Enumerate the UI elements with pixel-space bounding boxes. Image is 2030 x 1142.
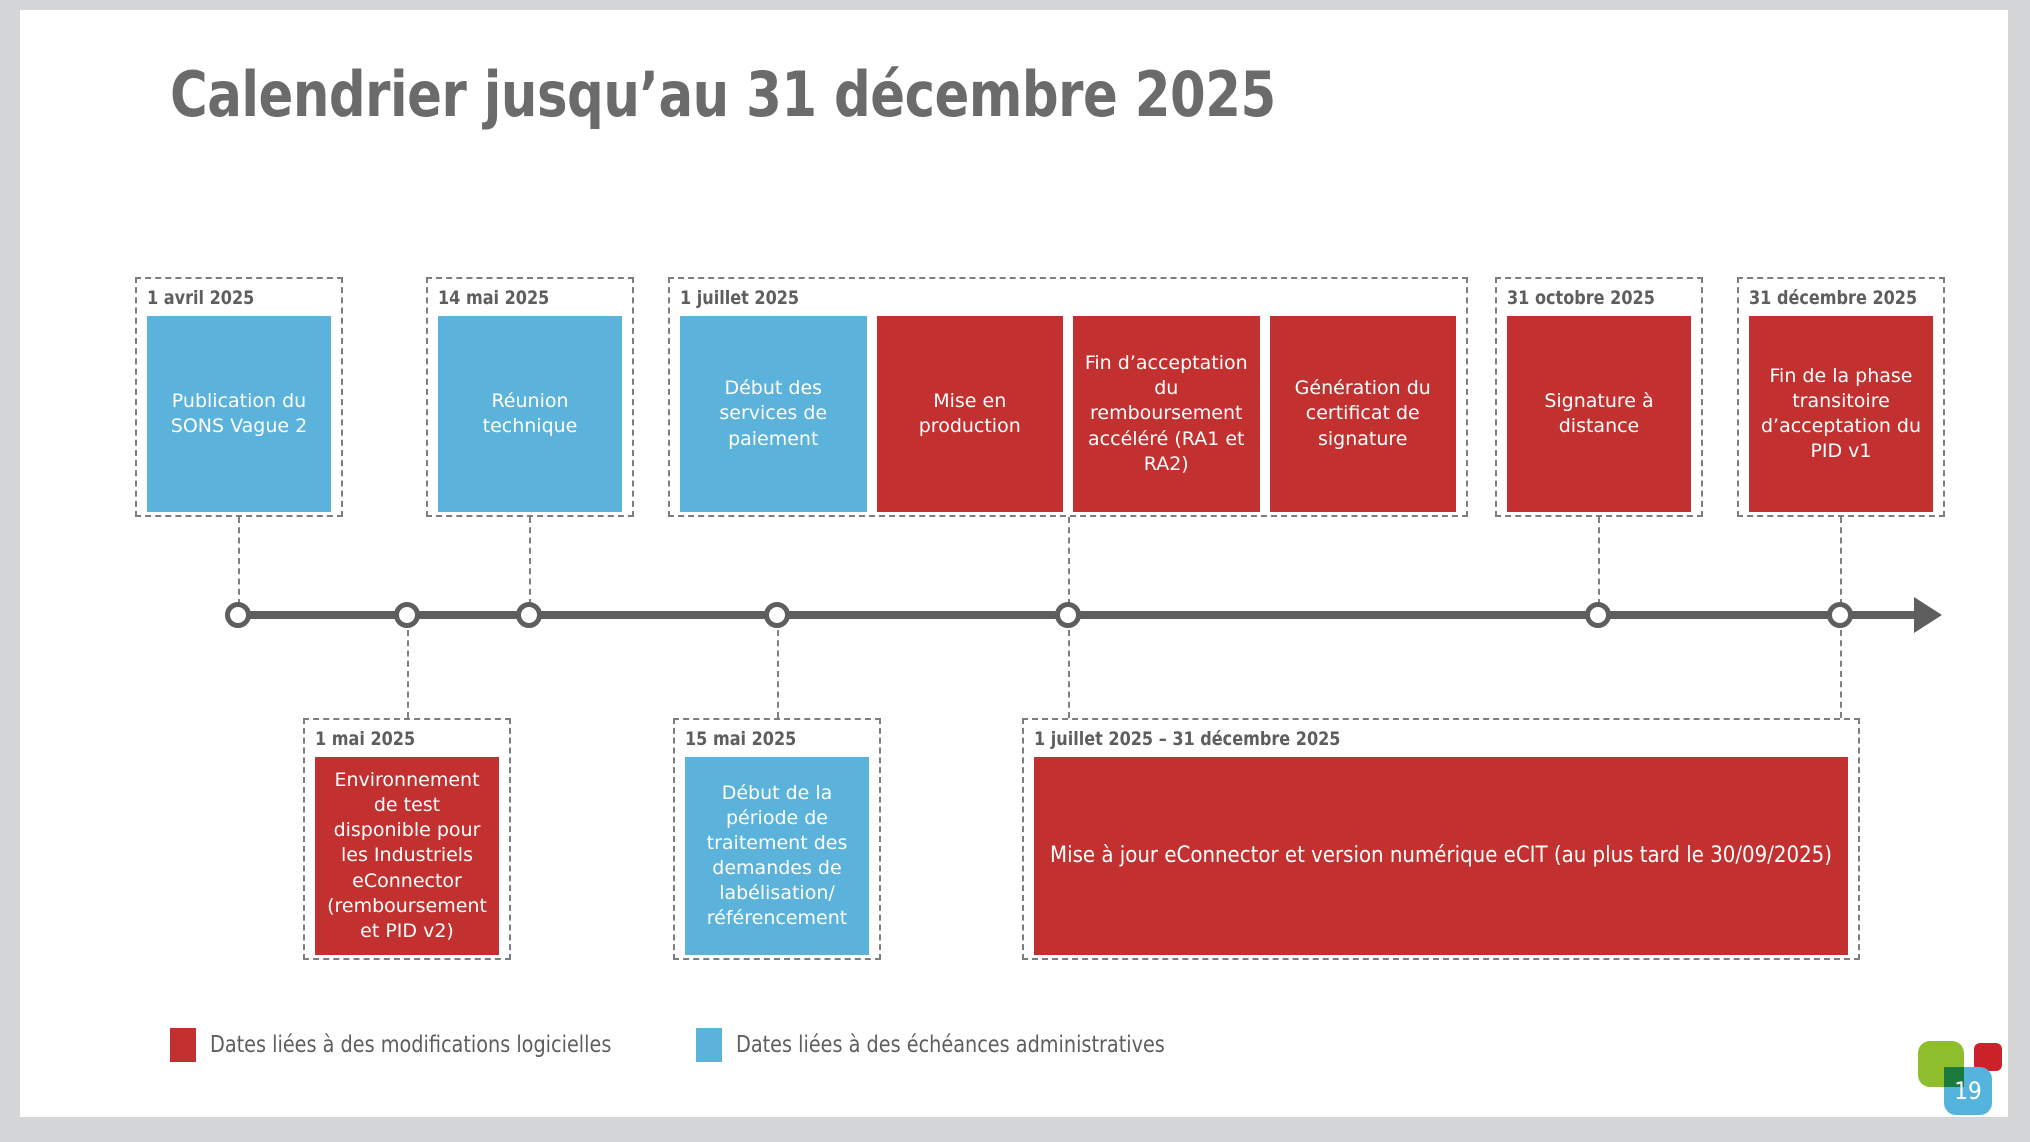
event-box-debut-periode-traitement[interactable]: Début de la période de traitement des de…	[685, 757, 869, 955]
page-number: 19	[1944, 1067, 1992, 1115]
legend-label: Dates liées à des échéances administrati…	[736, 1032, 1165, 1058]
group-event-boxes: Mise à jour eConnector et version numéri…	[1034, 757, 1848, 955]
timeline-node-15-mai[interactable]	[764, 602, 790, 628]
group-1-avril-2025[interactable]: 1 avril 2025 Publication du SONS Vague 2	[135, 277, 343, 517]
brand-logo-icon: 19	[1910, 1033, 2008, 1119]
legend-label: Dates liées à des modifications logiciel…	[210, 1032, 611, 1058]
group-event-boxes: Début des services de paiement Mise en p…	[680, 316, 1456, 512]
connector-31-octobre	[1598, 517, 1600, 605]
group-31-decembre-2025[interactable]: 31 décembre 2025 Fin de la phase transit…	[1737, 277, 1945, 517]
event-box-fin-acceptation-remboursement[interactable]: Fin d’acceptation du remboursement accél…	[1073, 316, 1260, 512]
legend-swatch-blue-icon	[696, 1028, 722, 1062]
timeline-node-14-mai[interactable]	[516, 602, 542, 628]
legend-swatch-red-icon	[170, 1028, 196, 1062]
group-date-label: 31 décembre 2025	[1749, 287, 1922, 309]
legend-item-echeances-administratives: Dates liées à des échéances administrati…	[696, 1028, 1197, 1062]
group-date-label: 1 juillet 2025 – 31 décembre 2025	[1034, 728, 1799, 750]
group-event-boxes: Début de la période de traitement des de…	[685, 757, 869, 955]
timeline-node-1-juillet[interactable]	[1055, 602, 1081, 628]
event-box-mise-a-jour-econnector-ecit[interactable]: Mise à jour eConnector et version numéri…	[1034, 757, 1848, 955]
page-title: Calendrier jusqu’au 31 décembre 2025	[170, 58, 1276, 131]
legend: Dates liées à des modifications logiciel…	[170, 1028, 1197, 1062]
event-box-debut-services-paiement[interactable]: Début des services de paiement	[680, 316, 867, 512]
group-event-boxes: Fin de la phase transitoire d’acceptatio…	[1749, 316, 1933, 512]
timeline-node-31-decembre[interactable]	[1827, 602, 1853, 628]
event-box-mise-en-production[interactable]: Mise en production	[877, 316, 1064, 512]
event-box-signature-a-distance[interactable]: Signature à distance	[1507, 316, 1691, 512]
slide-canvas: Calendrier jusqu’au 31 décembre 2025 1 a…	[20, 10, 2008, 1117]
connector-31-decembre-top	[1840, 517, 1842, 605]
connector-1-mai	[407, 630, 409, 718]
event-box-generation-certificat-signature[interactable]: Génération du certificat de signature	[1270, 316, 1457, 512]
event-box-reunion-technique[interactable]: Réunion technique	[438, 316, 622, 512]
group-event-boxes: Réunion technique	[438, 316, 622, 512]
group-date-label: 15 mai 2025	[685, 728, 858, 750]
timeline-node-1-mai[interactable]	[394, 602, 420, 628]
legend-item-modifications-logicielles: Dates liées à des modifications logiciel…	[170, 1028, 642, 1062]
group-event-boxes: Publication du SONS Vague 2	[147, 316, 331, 512]
connector-15-mai	[777, 630, 779, 718]
timeline-node-1-avril[interactable]	[225, 602, 251, 628]
group-14-mai-2025[interactable]: 14 mai 2025 Réunion technique	[426, 277, 634, 517]
group-event-boxes: Signature à distance	[1507, 316, 1691, 512]
group-date-label: 31 octobre 2025	[1507, 287, 1680, 309]
timeline-node-31-octobre[interactable]	[1585, 602, 1611, 628]
timeline-arrow-head-icon	[1914, 597, 1942, 633]
event-box-fin-phase-transitoire-pid-v1[interactable]: Fin de la phase transitoire d’acceptatio…	[1749, 316, 1933, 512]
group-date-label: 1 juillet 2025	[680, 287, 1409, 309]
group-1-mai-2025[interactable]: 1 mai 2025 Environnement de test disponi…	[303, 718, 511, 960]
event-box-publication-sons[interactable]: Publication du SONS Vague 2	[147, 316, 331, 512]
group-31-octobre-2025[interactable]: 31 octobre 2025 Signature à distance	[1495, 277, 1703, 517]
group-date-label: 1 mai 2025	[315, 728, 488, 750]
group-date-label: 1 avril 2025	[147, 287, 320, 309]
event-box-environnement-de-test[interactable]: Environnement de test disponible pour le…	[315, 757, 499, 955]
group-event-boxes: Environnement de test disponible pour le…	[315, 757, 499, 955]
group-date-label: 14 mai 2025	[438, 287, 611, 309]
group-1-juillet-31-decembre-2025[interactable]: 1 juillet 2025 – 31 décembre 2025 Mise à…	[1022, 718, 1860, 960]
connector-1-avril	[238, 517, 240, 605]
connector-31-decembre-bottom	[1840, 630, 1842, 718]
connector-1-juillet	[1068, 517, 1070, 605]
connector-1-juillet-bottom	[1068, 630, 1070, 718]
group-15-mai-2025[interactable]: 15 mai 2025 Début de la période de trait…	[673, 718, 881, 960]
group-1-juillet-2025[interactable]: 1 juillet 2025 Début des services de pai…	[668, 277, 1468, 517]
connector-14-mai	[529, 517, 531, 605]
